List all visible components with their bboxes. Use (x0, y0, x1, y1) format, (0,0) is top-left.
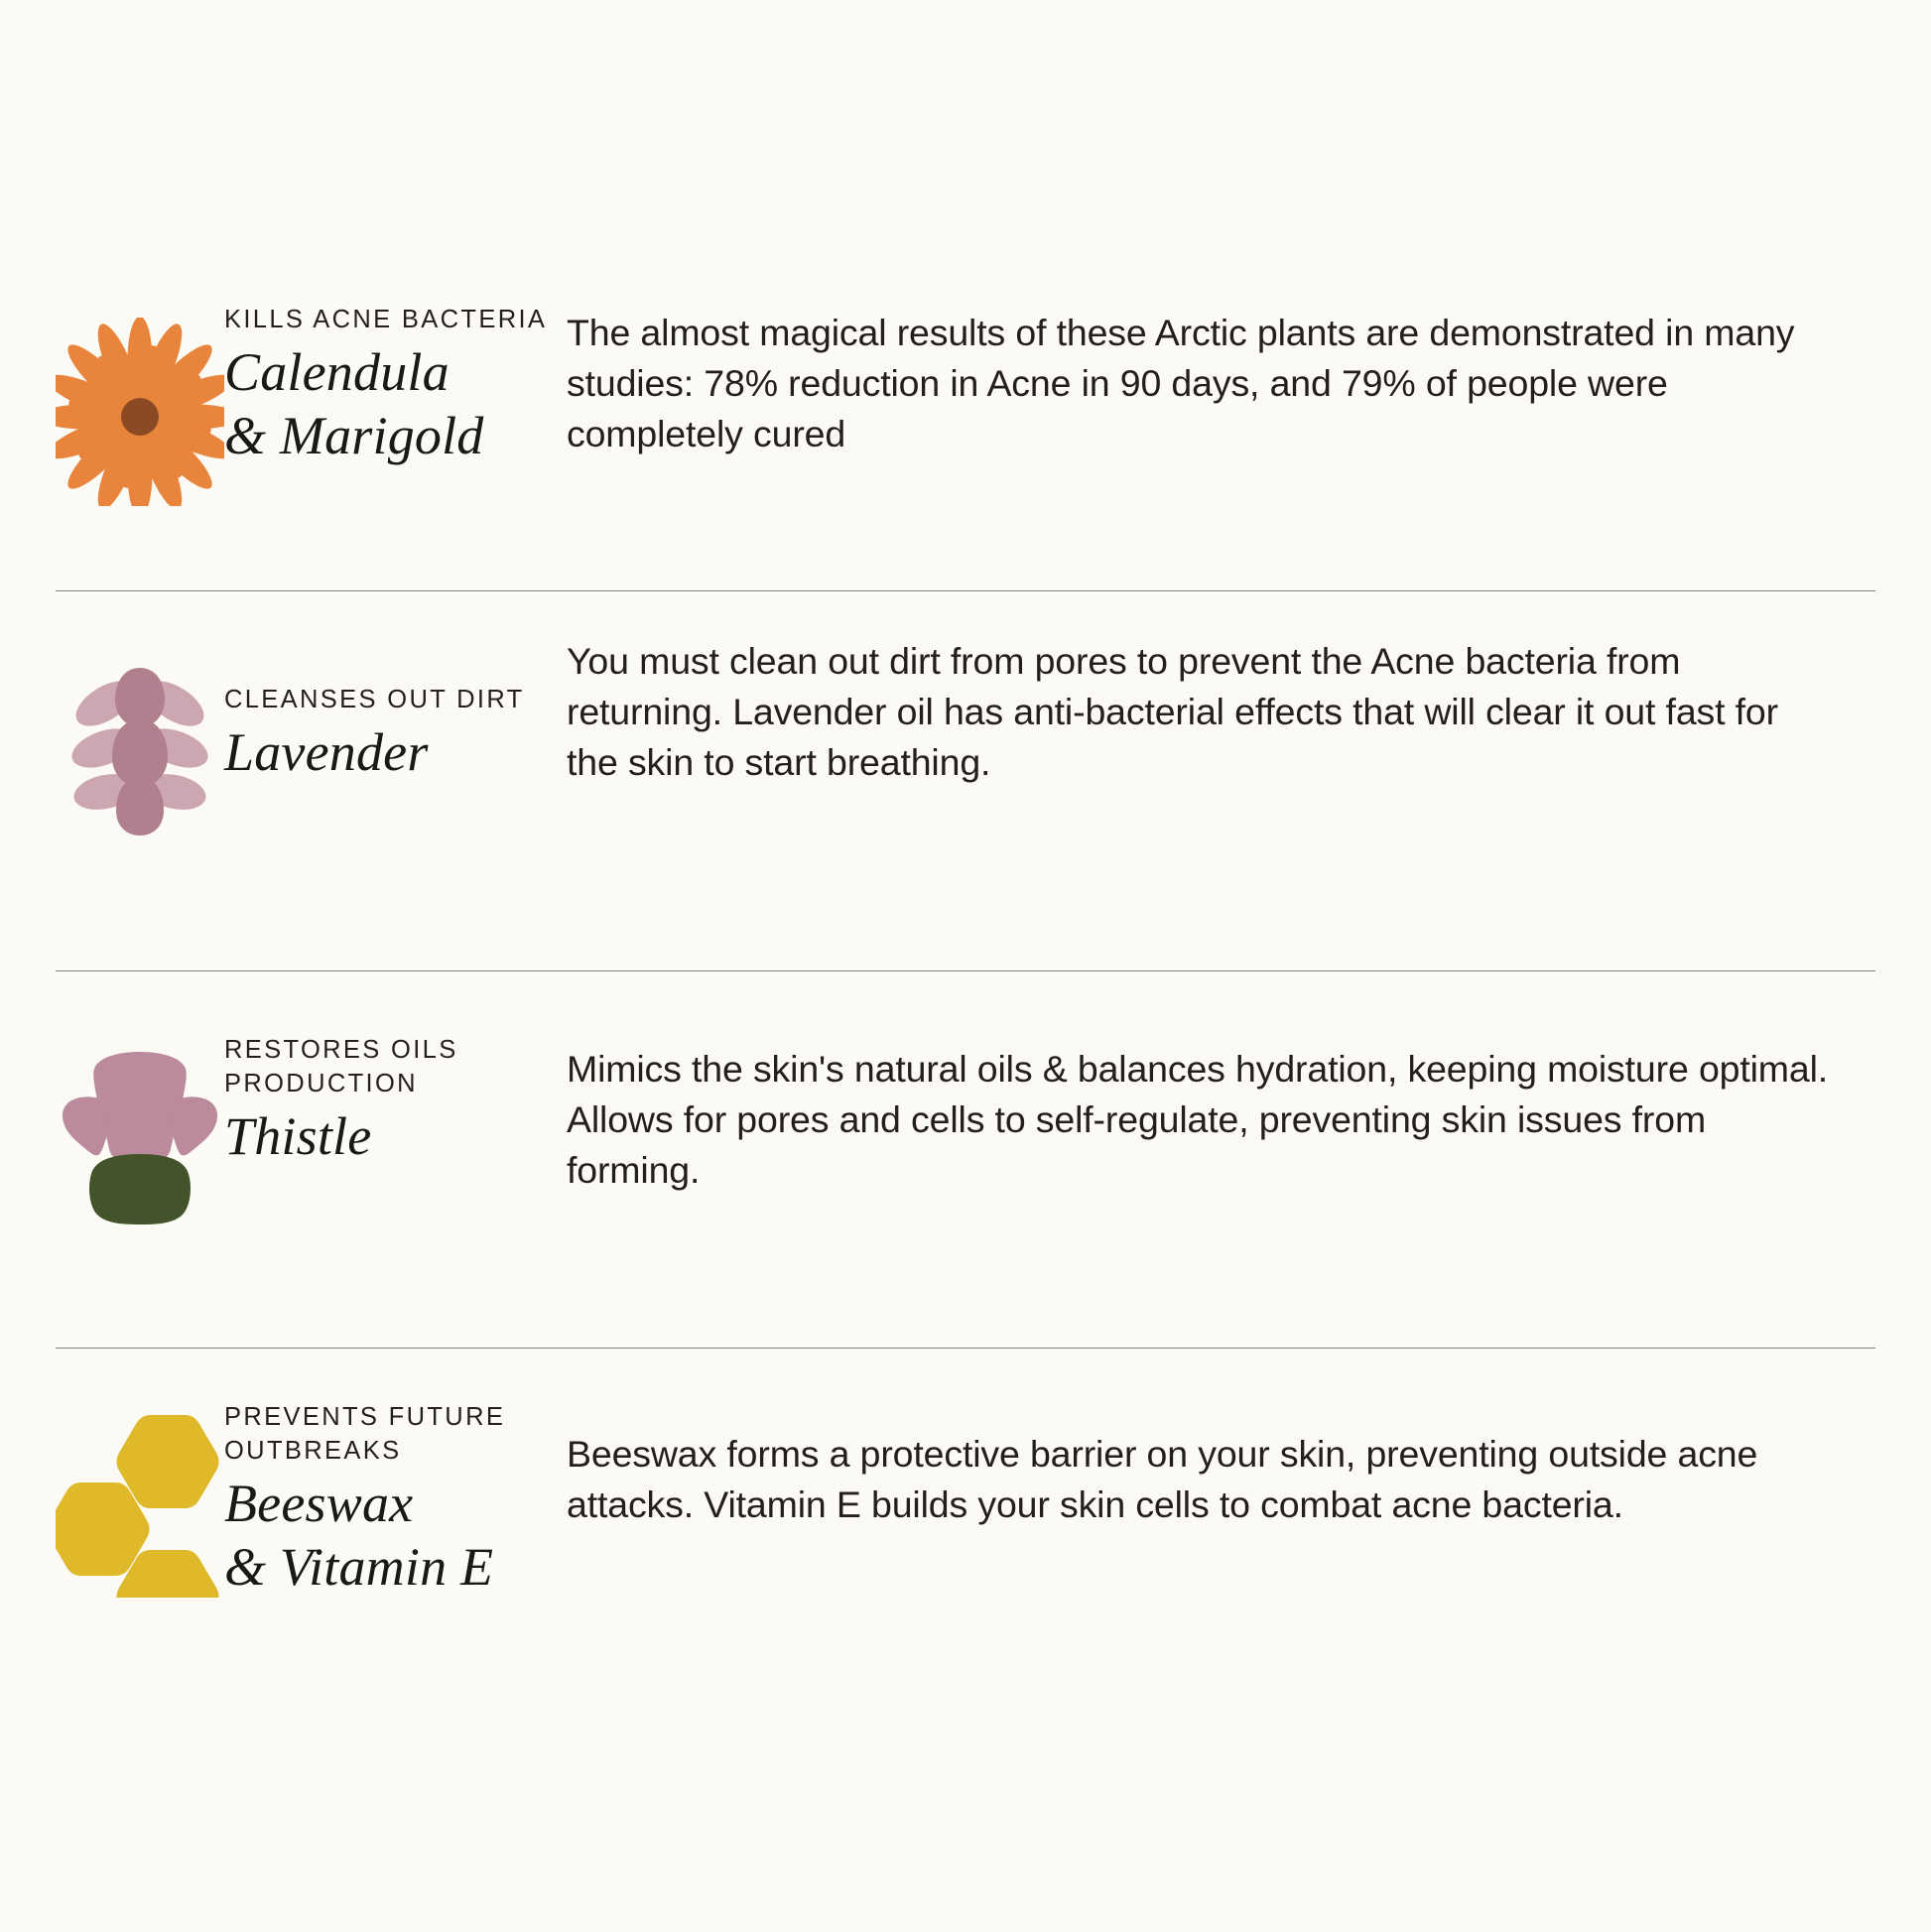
row-divider (56, 1348, 1875, 1349)
lavender-sprig-icon (56, 648, 224, 837)
row-divider (56, 970, 1875, 971)
benefit-icon-cell (56, 1016, 224, 1226)
ingredient-name: Calendula & Marigold (224, 341, 557, 467)
benefit-eyebrow: KILLS ACNE BACTERIA (224, 304, 557, 337)
benefit-name-cell: KILLS ACNE BACTERIA Calendula & Marigold (224, 298, 567, 467)
benefit-row: RESTORES OILS PRODUCTION Thistle Mimics … (56, 970, 1875, 1348)
row-divider (56, 590, 1875, 591)
benefit-row: PREVENTS FUTURE OUTBREAKS Beeswax & Vita… (56, 1348, 1875, 1715)
marigold-flower-icon (56, 318, 224, 506)
benefit-description: Mimics the skin's natural oils & balance… (567, 1044, 1836, 1197)
benefit-row: KILLS ACNE BACTERIA Calendula & Marigold… (56, 298, 1875, 590)
benefit-icon-cell (56, 1389, 224, 1598)
ingredient-name: Beeswax & Vitamin E (224, 1473, 557, 1599)
benefit-icon-cell (56, 298, 224, 506)
benefit-name-cell: CLEANSES OUT DIRT Lavender (224, 632, 567, 785)
benefit-description: The almost magical results of these Arct… (567, 308, 1836, 460)
benefit-eyebrow: CLEANSES OUT DIRT (224, 684, 557, 717)
benefit-rows-list: KILLS ACNE BACTERIA Calendula & Marigold… (56, 298, 1875, 1715)
ingredient-name: Thistle (224, 1105, 557, 1169)
thistle-flower-icon (56, 1038, 224, 1226)
benefit-icon-cell (56, 632, 224, 837)
benefit-description-cell: Mimics the skin's natural oils & balance… (567, 1016, 1875, 1197)
benefit-name-cell: RESTORES OILS PRODUCTION Thistle (224, 1016, 567, 1169)
benefit-description-cell: You must clean out dirt from pores to pr… (567, 632, 1875, 789)
benefit-row: CLEANSES OUT DIRT Lavender You must clea… (56, 590, 1875, 970)
honeycomb-icon (56, 1409, 224, 1598)
benefit-description: Beeswax forms a protective barrier on yo… (567, 1429, 1836, 1530)
benefit-description-cell: The almost magical results of these Arct… (567, 298, 1875, 460)
benefit-description: You must clean out dirt from pores to pr… (567, 636, 1836, 789)
benefit-name-cell: PREVENTS FUTURE OUTBREAKS Beeswax & Vita… (224, 1389, 567, 1599)
ingredient-name: Lavender (224, 721, 557, 785)
benefit-eyebrow: RESTORES OILS PRODUCTION (224, 1034, 557, 1101)
ingredient-benefits-panel: KILLS ACNE BACTERIA Calendula & Marigold… (0, 0, 1931, 1932)
benefit-eyebrow: PREVENTS FUTURE OUTBREAKS (224, 1401, 557, 1469)
benefit-description-cell: Beeswax forms a protective barrier on yo… (567, 1389, 1875, 1530)
